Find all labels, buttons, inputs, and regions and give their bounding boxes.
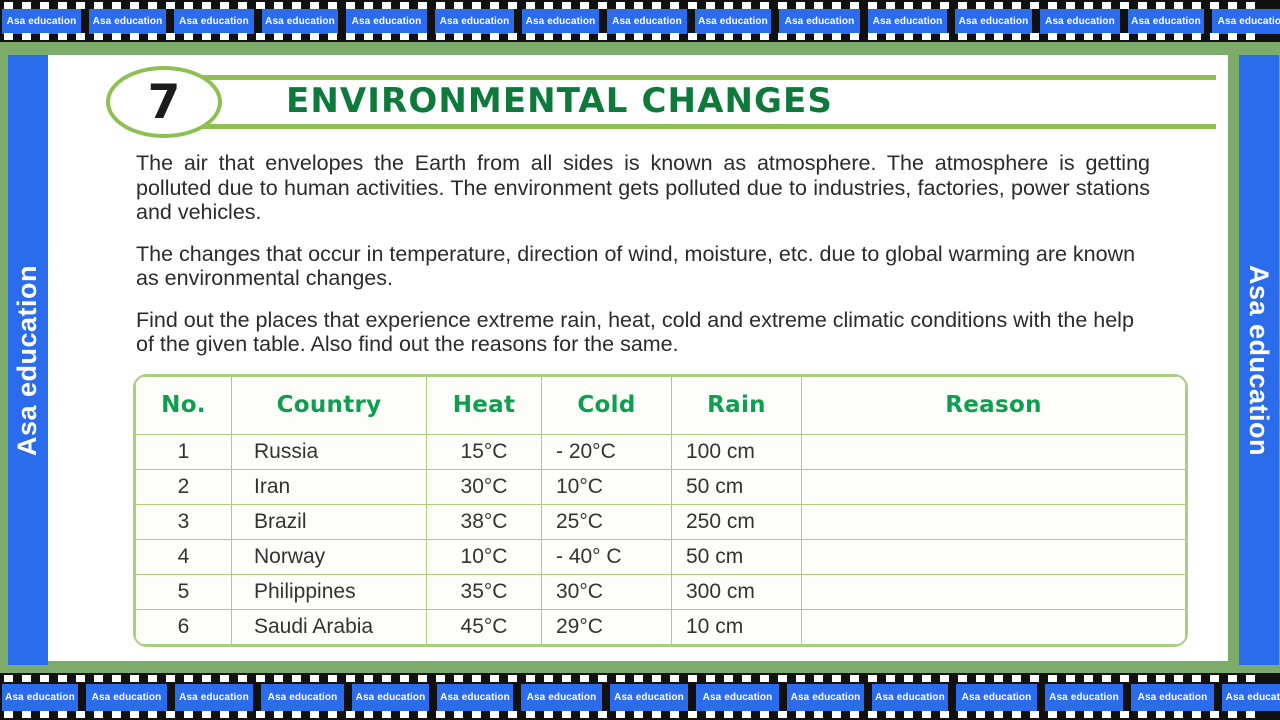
sprocket-hole [40, 2, 49, 9]
sprocket-hole [1138, 2, 1147, 9]
sprocket-hole [112, 675, 121, 682]
sprocket-hole [850, 675, 859, 682]
sprocket-hole [652, 2, 661, 9]
sprocket-hole [76, 33, 85, 40]
watermark-frame: Asa education [522, 9, 599, 34]
sprocket-hole [4, 675, 13, 682]
sprocket-hole [310, 675, 319, 682]
sprocket-hole [598, 33, 607, 40]
sprocket-hole [418, 711, 427, 718]
sprocket-hole [472, 711, 481, 718]
sprocket-hole [112, 2, 121, 9]
sprocket-hole [112, 711, 121, 718]
sprocket-hole [616, 675, 625, 682]
sprocket-hole [994, 33, 1003, 40]
watermark-frame: Asa education [352, 684, 429, 711]
cell-reason[interactable] [802, 574, 1186, 609]
sprocket-hole [526, 675, 535, 682]
sprocket-hole [580, 711, 589, 718]
sprocket-hole [454, 711, 463, 718]
sprocket-hole [994, 2, 1003, 9]
cell-no: 2 [136, 469, 232, 504]
sprocket-hole [688, 2, 697, 9]
cell-country: Iran [232, 469, 427, 504]
sprocket-hole [202, 33, 211, 40]
climate-table-container: No. Country Heat Cold Rain Reason 1Russi… [133, 374, 1188, 647]
cell-no: 6 [136, 609, 232, 644]
chapter-header: 7 ENVIRONMENTAL CHANGES [78, 63, 1210, 137]
sprocket-hole [490, 711, 499, 718]
sprocket-hole [1030, 711, 1039, 718]
sprocket-hole [724, 33, 733, 40]
sprocket-hole [166, 675, 175, 682]
sprocket-hole [148, 675, 157, 682]
sprocket-hole [670, 2, 679, 9]
sprocket-hole [94, 33, 103, 40]
watermark-frame: Asa education [86, 684, 167, 711]
sprocket-hole [742, 675, 751, 682]
sprocket-hole [418, 33, 427, 40]
sprocket-hole [1066, 2, 1075, 9]
sprocket-hole [886, 33, 895, 40]
sprocket-hole [400, 33, 409, 40]
sprocket-hole [562, 2, 571, 9]
sprocket-hole [22, 675, 31, 682]
sprocket-hole [472, 33, 481, 40]
sprocket-hole [814, 2, 823, 9]
sprocket-hole [580, 33, 589, 40]
sprocket-hole [166, 2, 175, 9]
watermark-frame: Asa education [1128, 9, 1204, 34]
sprocket-hole [310, 33, 319, 40]
chapter-number: 7 [148, 79, 181, 126]
sprocket-hole [1228, 711, 1237, 718]
column-header-no: No. [136, 376, 232, 434]
sprocket-hole [76, 2, 85, 9]
cell-reason[interactable] [802, 504, 1186, 539]
sprocket-hole [94, 2, 103, 9]
watermark-frame: Asa education [2, 684, 78, 711]
sprocket-hole [1066, 711, 1075, 718]
sprocket-hole [310, 711, 319, 718]
sprocket-hole [1066, 675, 1075, 682]
sprocket-hole [832, 675, 841, 682]
sprocket-hole [1138, 675, 1147, 682]
cell-country: Norway [232, 539, 427, 574]
table-row: 3Brazil38°C25°C250 cm [136, 504, 1186, 539]
sprocket-hole [706, 711, 715, 718]
sprocket-hole [58, 675, 67, 682]
sprocket-hole [796, 711, 805, 718]
watermark-frame: Asa education [607, 9, 687, 34]
sprocket-hole [1246, 2, 1255, 9]
sprocket-holes-bottom-top-row [0, 675, 1280, 682]
sprocket-hole [22, 2, 31, 9]
sprocket-hole [634, 33, 643, 40]
cell-rain: 250 cm [672, 504, 802, 539]
sprocket-hole [382, 675, 391, 682]
sprocket-hole [940, 33, 949, 40]
sprocket-hole [778, 2, 787, 9]
sprocket-hole [364, 2, 373, 9]
sprocket-hole [1192, 2, 1201, 9]
cell-reason[interactable] [802, 434, 1186, 469]
sprocket-hole [22, 33, 31, 40]
cell-heat: 38°C [427, 504, 542, 539]
sprocket-hole [904, 33, 913, 40]
sprocket-hole [472, 675, 481, 682]
sprocket-hole [868, 675, 877, 682]
sprocket-hole [544, 675, 553, 682]
watermark-filmstrip-bottom: Asa educationAsa educationAsa educationA… [0, 673, 1280, 720]
sprocket-hole [436, 2, 445, 9]
sprocket-hole [490, 675, 499, 682]
watermark-frame: Asa education [779, 9, 860, 34]
sprocket-hole [346, 33, 355, 40]
watermark-frame: Asa education [872, 684, 948, 711]
sprocket-hole [796, 675, 805, 682]
sprocket-hole [454, 2, 463, 9]
sprocket-hole [58, 711, 67, 718]
sprocket-hole [850, 2, 859, 9]
sprocket-hole [1228, 33, 1237, 40]
sprocket-hole [1210, 711, 1219, 718]
cell-rain: 10 cm [672, 609, 802, 644]
sprocket-hole [130, 2, 139, 9]
sprocket-hole [670, 711, 679, 718]
sprocket-hole [778, 711, 787, 718]
sprocket-hole [382, 33, 391, 40]
sprocket-hole [760, 711, 769, 718]
sprocket-hole [742, 2, 751, 9]
sprocket-hole [562, 675, 571, 682]
table-row: 4Norway10°C- 40° C50 cm [136, 539, 1186, 574]
header-rule-top [186, 75, 1216, 80]
column-header-cold: Cold [542, 376, 672, 434]
sprocket-hole [94, 675, 103, 682]
sprocket-hole [40, 675, 49, 682]
sprocket-hole [796, 33, 805, 40]
sprocket-hole [256, 675, 265, 682]
watermark-frame: Asa education [2, 9, 81, 34]
sprocket-hole [958, 2, 967, 9]
sprocket-hole [508, 675, 517, 682]
sprocket-hole [292, 33, 301, 40]
cell-no: 5 [136, 574, 232, 609]
sprocket-hole [346, 675, 355, 682]
sprocket-hole [652, 675, 661, 682]
cell-heat: 30°C [427, 469, 542, 504]
sprocket-hole [832, 2, 841, 9]
sprocket-hole [1030, 2, 1039, 9]
cell-heat: 15°C [427, 434, 542, 469]
sprocket-hole [1102, 2, 1111, 9]
sprocket-hole [598, 711, 607, 718]
sprocket-hole [1102, 711, 1111, 718]
cell-country: Brazil [232, 504, 427, 539]
cell-reason[interactable] [802, 609, 1186, 644]
watermark-frame: Asa education [1222, 684, 1280, 711]
sprocket-hole [202, 675, 211, 682]
cell-heat: 10°C [427, 539, 542, 574]
watermark-banner-right: Asa education [1239, 55, 1279, 665]
sprocket-hole [652, 711, 661, 718]
watermark-frame: Asa education [787, 684, 864, 711]
sprocket-hole [328, 33, 337, 40]
cell-rain: 100 cm [672, 434, 802, 469]
sprocket-hole [400, 2, 409, 9]
sprocket-hole [454, 33, 463, 40]
watermark-frame: Asa education [1131, 684, 1214, 711]
sprocket-holes-bottom-bottom-row [0, 711, 1280, 718]
watermark-frame: Asa education [261, 684, 344, 711]
sprocket-hole [922, 33, 931, 40]
paragraph-1: The air that envelopes the Earth from al… [136, 151, 1150, 225]
sprocket-hole [1210, 2, 1219, 9]
sprocket-hole [616, 711, 625, 718]
sprocket-hole [364, 33, 373, 40]
sprocket-hole [688, 711, 697, 718]
paragraph-2: The changes that occur in temperature, d… [136, 242, 1150, 291]
sprocket-hole [184, 711, 193, 718]
sprocket-hole [40, 33, 49, 40]
sprocket-hole [454, 675, 463, 682]
sprocket-hole [292, 2, 301, 9]
sprocket-hole [1246, 711, 1255, 718]
cell-cold: 30°C [542, 574, 672, 609]
sprocket-hole [616, 33, 625, 40]
sprocket-hole [1120, 675, 1129, 682]
sprocket-hole [904, 711, 913, 718]
sprocket-hole [1174, 711, 1183, 718]
sprocket-hole [238, 711, 247, 718]
screen: Asa educationAsa educationAsa educationA… [0, 0, 1280, 720]
sprocket-hole [202, 711, 211, 718]
sprocket-hole [508, 711, 517, 718]
cell-country: Philippines [232, 574, 427, 609]
sprocket-hole [994, 711, 1003, 718]
sprocket-hole [958, 33, 967, 40]
sprocket-hole [850, 33, 859, 40]
sprocket-hole [1048, 33, 1057, 40]
sprocket-hole [400, 675, 409, 682]
sprocket-hole [814, 711, 823, 718]
sprocket-hole [940, 675, 949, 682]
sprocket-hole [1210, 33, 1219, 40]
sprocket-hole [274, 711, 283, 718]
watermark-frames-top: Asa educationAsa educationAsa educationA… [0, 9, 1280, 34]
sprocket-hole [184, 2, 193, 9]
sprocket-hole [526, 33, 535, 40]
sprocket-hole [1156, 675, 1165, 682]
sprocket-hole [706, 675, 715, 682]
sprocket-hole [526, 2, 535, 9]
sprocket-hole [130, 711, 139, 718]
sprocket-hole [580, 2, 589, 9]
sprocket-hole [1174, 675, 1183, 682]
sprocket-hole [886, 2, 895, 9]
table-row: 2Iran30°C10°C50 cm [136, 469, 1186, 504]
sprocket-hole [598, 675, 607, 682]
sprocket-hole [382, 711, 391, 718]
sprocket-hole [94, 711, 103, 718]
sprocket-hole [292, 711, 301, 718]
sprocket-hole [958, 675, 967, 682]
sprocket-hole [1138, 711, 1147, 718]
chapter-number-badge: 7 [106, 66, 222, 138]
sprocket-hole [310, 2, 319, 9]
sprocket-hole [148, 33, 157, 40]
sprocket-hole [778, 675, 787, 682]
sprocket-hole [580, 675, 589, 682]
sprocket-hole [1192, 711, 1201, 718]
watermark-frame: Asa education [695, 9, 771, 34]
sprocket-hole [688, 33, 697, 40]
sprocket-hole [76, 711, 85, 718]
cell-no: 4 [136, 539, 232, 574]
sprocket-hole [1102, 33, 1111, 40]
sprocket-hole [508, 2, 517, 9]
sprocket-hole [220, 711, 229, 718]
sprocket-hole [166, 33, 175, 40]
sprocket-hole [418, 2, 427, 9]
sprocket-hole [238, 2, 247, 9]
sprocket-hole [436, 711, 445, 718]
sprocket-hole [184, 33, 193, 40]
sprocket-hole [706, 2, 715, 9]
sprocket-hole [238, 675, 247, 682]
sprocket-hole [400, 711, 409, 718]
sprocket-hole [1084, 2, 1093, 9]
sprocket-hole [346, 2, 355, 9]
sprocket-hole [958, 711, 967, 718]
watermark-frame: Asa education [435, 9, 514, 34]
sprocket-hole [1228, 675, 1237, 682]
sprocket-hole [1174, 2, 1183, 9]
sprocket-hole [1084, 675, 1093, 682]
cell-reason[interactable] [802, 539, 1186, 574]
sprocket-hole [1102, 675, 1111, 682]
sprocket-hole [1030, 33, 1039, 40]
sprocket-hole [1120, 2, 1129, 9]
sprocket-hole [868, 33, 877, 40]
cell-cold: 29°C [542, 609, 672, 644]
sprocket-hole [1012, 675, 1021, 682]
sprocket-hole [364, 675, 373, 682]
table-row: 5Philippines35°C30°C300 cm [136, 574, 1186, 609]
watermark-frame: Asa education [1045, 684, 1123, 711]
sprocket-hole [130, 33, 139, 40]
watermark-frame: Asa education [346, 9, 427, 34]
watermark-filmstrip-top: Asa educationAsa educationAsa educationA… [0, 0, 1280, 42]
sprocket-hole [706, 33, 715, 40]
sprocket-hole [1192, 675, 1201, 682]
watermark-frame: Asa education [175, 684, 253, 711]
sprocket-hole [670, 33, 679, 40]
sprocket-hole [274, 33, 283, 40]
sprocket-hole [922, 711, 931, 718]
sprocket-hole [1012, 33, 1021, 40]
sprocket-hole [4, 711, 13, 718]
table-header-row: No. Country Heat Cold Rain Reason [136, 376, 1186, 434]
sprocket-hole [886, 711, 895, 718]
cell-reason[interactable] [802, 469, 1186, 504]
sprocket-hole [328, 675, 337, 682]
sprocket-hole [1084, 711, 1093, 718]
sprocket-hole [976, 2, 985, 9]
column-header-heat: Heat [427, 376, 542, 434]
sprocket-hole [256, 2, 265, 9]
sprocket-hole [1210, 675, 1219, 682]
sprocket-hole [1084, 33, 1093, 40]
sprocket-hole [130, 675, 139, 682]
sprocket-hole [274, 2, 283, 9]
sprocket-hole [832, 711, 841, 718]
sprocket-hole [634, 711, 643, 718]
sprocket-hole [742, 711, 751, 718]
sprocket-hole [1156, 33, 1165, 40]
sprocket-hole [778, 33, 787, 40]
table-row: 6Saudi Arabia45°C29°C10 cm [136, 609, 1186, 644]
sprocket-hole [544, 2, 553, 9]
sprocket-hole [724, 711, 733, 718]
watermark-frame: Asa education [521, 684, 602, 711]
sprocket-hole [724, 675, 733, 682]
sprocket-hole [1174, 33, 1183, 40]
sprocket-hole [364, 711, 373, 718]
cell-no: 1 [136, 434, 232, 469]
sprocket-hole [940, 711, 949, 718]
sprocket-hole [742, 33, 751, 40]
sprocket-hole [382, 2, 391, 9]
sprocket-hole [598, 2, 607, 9]
sprocket-hole [976, 675, 985, 682]
sprocket-hole [166, 711, 175, 718]
sprocket-hole [526, 711, 535, 718]
table-body: 1Russia15°C- 20°C100 cm2Iran30°C10°C50 c… [136, 434, 1186, 644]
sprocket-hole [868, 711, 877, 718]
sprocket-hole [922, 2, 931, 9]
sprocket-hole [760, 33, 769, 40]
sprocket-hole [940, 2, 949, 9]
sprocket-hole [274, 675, 283, 682]
sprocket-hole [976, 33, 985, 40]
sprocket-hole [832, 33, 841, 40]
watermark-frame: Asa education [89, 9, 166, 34]
sprocket-hole [112, 33, 121, 40]
sprocket-holes-top-row [0, 2, 1280, 9]
sprocket-hole [40, 711, 49, 718]
watermark-frame: Asa education [1040, 9, 1120, 34]
sprocket-hole [634, 675, 643, 682]
sprocket-hole [1048, 711, 1057, 718]
column-header-rain: Rain [672, 376, 802, 434]
sprocket-hole [220, 33, 229, 40]
sprocket-hole [688, 675, 697, 682]
sprocket-hole [148, 711, 157, 718]
cell-cold: 10°C [542, 469, 672, 504]
watermark-frame: Asa education [696, 684, 779, 711]
sprocket-hole [4, 33, 13, 40]
sprocket-hole [220, 2, 229, 9]
cell-heat: 35°C [427, 574, 542, 609]
sprocket-hole [1246, 33, 1255, 40]
sprocket-hole [202, 2, 211, 9]
sprocket-hole [490, 2, 499, 9]
sprocket-hole [760, 675, 769, 682]
sprocket-hole [886, 675, 895, 682]
sprocket-hole [850, 711, 859, 718]
